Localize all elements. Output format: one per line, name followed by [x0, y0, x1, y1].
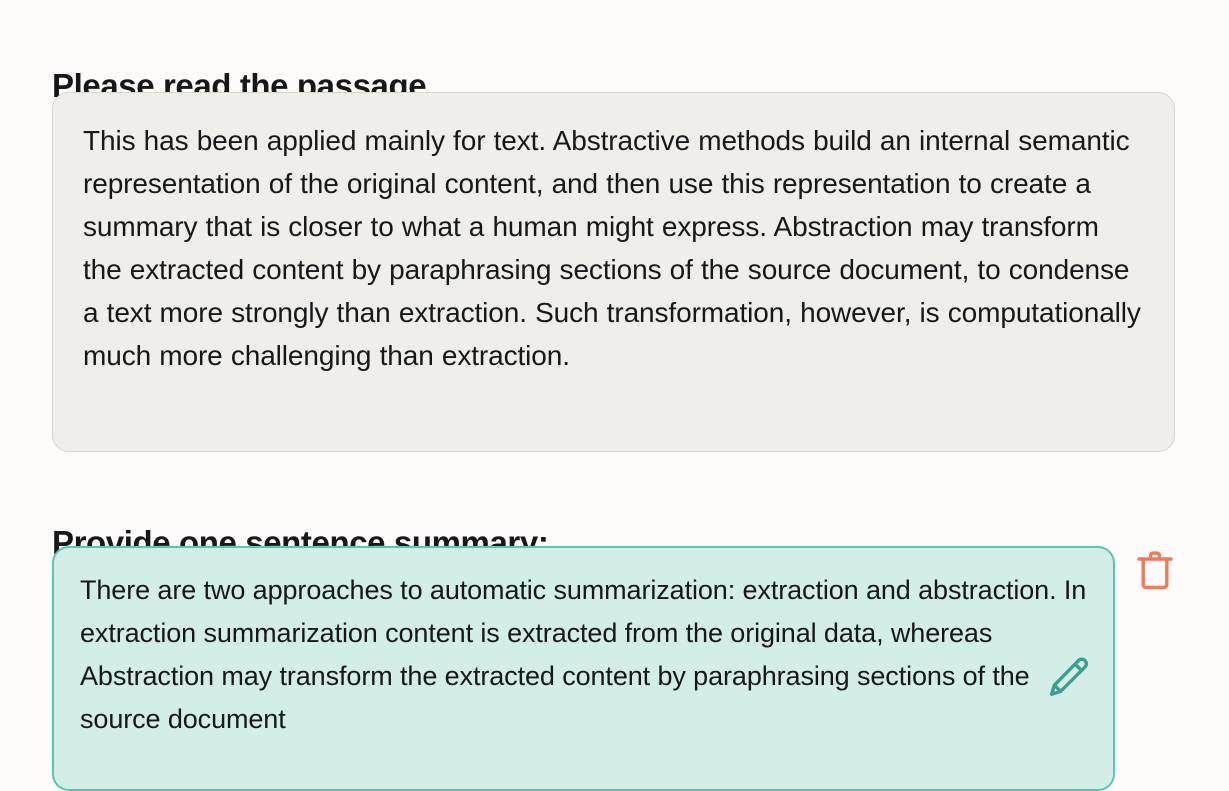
pencil-icon [1046, 655, 1090, 701]
passage-panel: This has been applied mainly for text. A… [52, 92, 1175, 452]
passage-text: This has been applied mainly for text. A… [83, 119, 1144, 377]
delete-button[interactable] [1135, 549, 1175, 593]
task-page: Please read the passage This has been ap… [0, 0, 1229, 756]
summary-input[interactable]: There are two approaches to automatic su… [52, 546, 1115, 791]
summary-text: There are two approaches to automatic su… [80, 569, 1087, 741]
trash-icon [1135, 549, 1175, 593]
edit-button[interactable] [1046, 655, 1090, 701]
